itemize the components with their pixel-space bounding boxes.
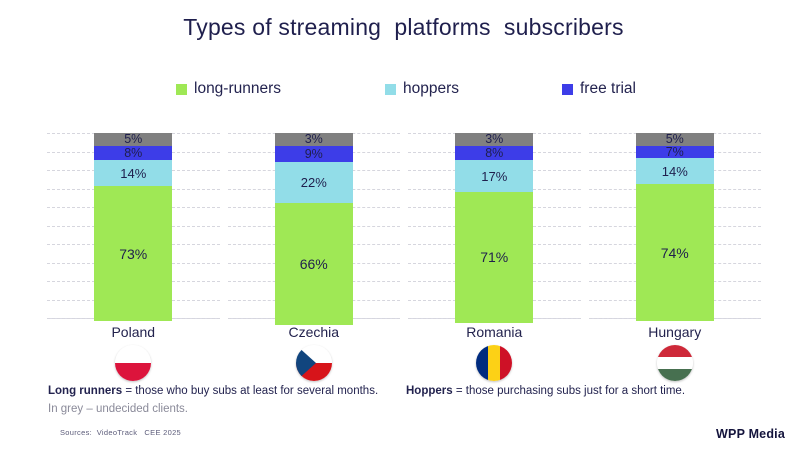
brand-logo: WPP Media: [716, 427, 785, 441]
sources-line: Sources: VideoTrack CEE 2025: [60, 428, 181, 437]
legend-item-free-trial[interactable]: free trial: [562, 80, 636, 98]
chart-panel-czechia: 3%9%22%66%: [228, 133, 401, 319]
note-long-runners: Long runners = those who buy subs at lea…: [48, 385, 378, 397]
flag-band: [657, 369, 693, 381]
flag-band: [488, 345, 500, 381]
flag-band: [115, 363, 151, 381]
legend-swatch-free-trial: [562, 84, 573, 95]
bar-segment-value: 5%: [666, 133, 684, 146]
category-poland: Poland: [47, 322, 220, 380]
note-hoppers: Hoppers = those purchasing subs just for…: [406, 385, 685, 397]
bar-segment-value: 17%: [481, 170, 507, 183]
bar-segment-value: 7%: [666, 146, 684, 159]
bar-segment-value: 66%: [300, 257, 328, 271]
legend-label-long-runners: long-runners: [194, 80, 281, 98]
bar-segment-value: 3%: [485, 133, 503, 146]
bar-segment-value: 8%: [485, 147, 503, 160]
bar-segment-value: 9%: [305, 148, 323, 161]
category-romania: Romania: [408, 322, 581, 380]
flag-icon-hungary: [657, 345, 693, 381]
bar-segment-value: 14%: [120, 167, 146, 180]
bar-segment-value: 73%: [119, 247, 147, 261]
chart-legend: long-runners hoppers free trial: [120, 80, 687, 102]
bar-segment-long-runners[interactable]: 66%: [275, 203, 353, 325]
bar-segment-undecided[interactable]: 3%: [455, 133, 533, 146]
flag-band: [657, 345, 693, 357]
bar-segment-hoppers[interactable]: 22%: [275, 162, 353, 203]
category-czechia: Czechia: [228, 322, 401, 380]
category-label: Romania: [408, 324, 581, 340]
note-hoppers-def: = those purchasing subs just for a short…: [453, 385, 685, 397]
category-label: Hungary: [589, 324, 762, 340]
chart-panel-hungary: 5%7%14%74%: [589, 133, 762, 319]
flag-icon-poland: [115, 345, 151, 381]
category-label: Poland: [47, 324, 220, 340]
note-hoppers-term: Hoppers: [406, 385, 453, 397]
bar-segment-value: 74%: [661, 246, 689, 260]
bar-segment-hoppers[interactable]: 14%: [636, 158, 714, 184]
stacked-bar[interactable]: 3%9%22%66%: [275, 133, 353, 318]
flag-icon-romania: [476, 345, 512, 381]
page-title: Types of streaming platforms subscribers: [0, 14, 807, 41]
legend-item-hoppers[interactable]: hoppers: [385, 80, 459, 98]
flag-band: [115, 345, 151, 363]
bar-segment-value: 8%: [124, 147, 142, 160]
stacked-bar[interactable]: 5%7%14%74%: [636, 133, 714, 318]
stacked-bar[interactable]: 5%8%14%73%: [94, 133, 172, 318]
bar-segment-hoppers[interactable]: 17%: [455, 160, 533, 191]
bar-segment-long-runners[interactable]: 73%: [94, 186, 172, 321]
stacked-bar-chart: 5%8%14%73%3%9%22%66%3%8%17%71%5%7%14%74%: [47, 133, 761, 319]
bar-segment-free-trial[interactable]: 7%: [636, 146, 714, 159]
bar-segment-long-runners[interactable]: 71%: [455, 192, 533, 323]
legend-item-long-runners[interactable]: long-runners: [176, 80, 281, 98]
bar-segment-undecided[interactable]: 3%: [275, 133, 353, 146]
bar-segment-value: 3%: [305, 133, 323, 146]
legend-label-free-trial: free trial: [580, 80, 636, 98]
flag-triangle: [296, 345, 316, 381]
bar-segment-hoppers[interactable]: 14%: [94, 160, 172, 186]
bar-segment-value: 14%: [662, 165, 688, 178]
flag-band: [476, 345, 488, 381]
category-axis: PolandCzechiaRomaniaHungary: [47, 322, 761, 380]
bar-segment-free-trial[interactable]: 8%: [94, 146, 172, 161]
flag-band: [657, 357, 693, 369]
bar-segment-value: 71%: [480, 250, 508, 264]
footnotes: Long runners = those who buy subs at lea…: [48, 385, 758, 401]
legend-label-hoppers: hoppers: [403, 80, 459, 98]
bar-segment-free-trial[interactable]: 8%: [455, 146, 533, 161]
bar-segment-undecided[interactable]: 5%: [636, 133, 714, 146]
bar-segment-long-runners[interactable]: 74%: [636, 184, 714, 321]
chart-panel-poland: 5%8%14%73%: [47, 133, 220, 319]
chart-panel-romania: 3%8%17%71%: [408, 133, 581, 319]
note-grey-undecided: In grey – undecided clients.: [48, 403, 188, 415]
category-hungary: Hungary: [589, 322, 762, 380]
legend-swatch-long-runners: [176, 84, 187, 95]
bar-segment-free-trial[interactable]: 9%: [275, 146, 353, 163]
flag-icon-czechia: [296, 345, 332, 381]
stacked-bar[interactable]: 3%8%17%71%: [455, 133, 533, 318]
bar-segment-value: 5%: [124, 133, 142, 146]
note-long-runners-def: = those who buy subs at least for severa…: [122, 385, 378, 397]
note-long-runners-term: Long runners: [48, 385, 122, 397]
category-label: Czechia: [228, 324, 401, 340]
bar-segment-value: 22%: [301, 176, 327, 189]
bar-segment-undecided[interactable]: 5%: [94, 133, 172, 146]
legend-swatch-hoppers: [385, 84, 396, 95]
flag-band: [500, 345, 512, 381]
